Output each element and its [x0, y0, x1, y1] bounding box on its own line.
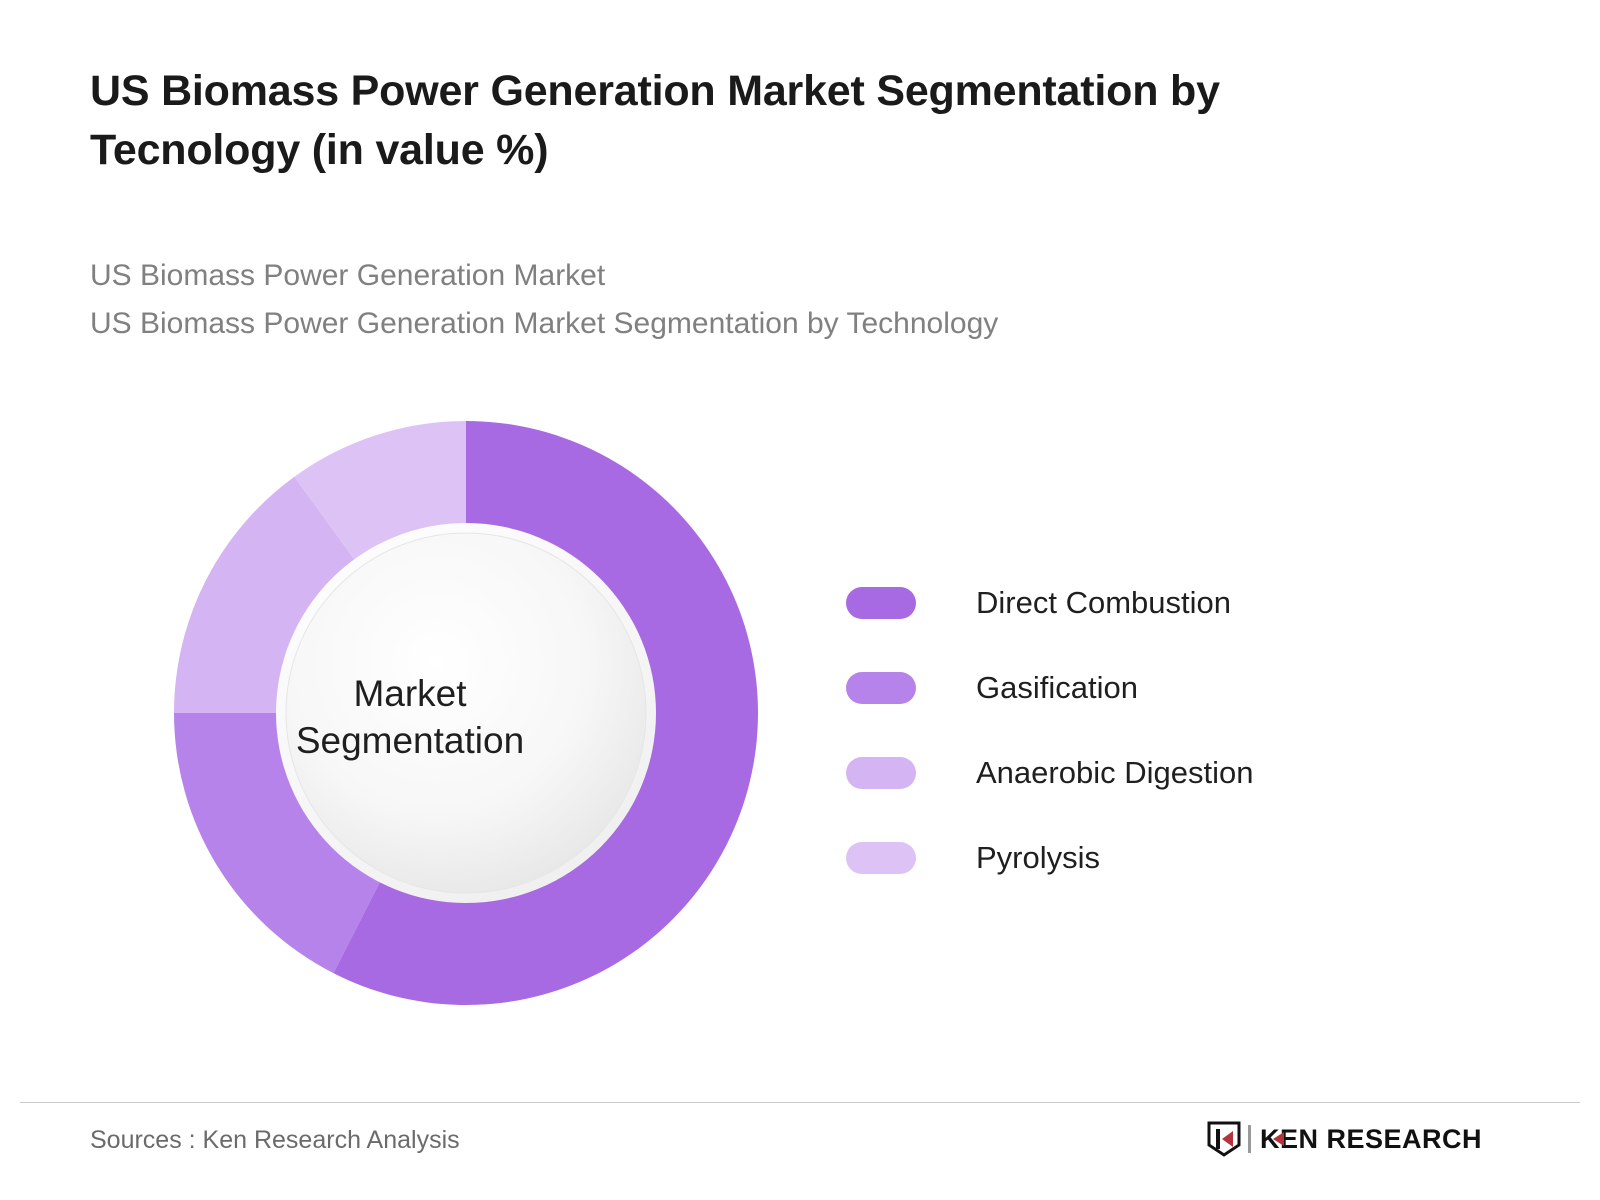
- subtitle-line-2: US Biomass Power Generation Market Segme…: [90, 300, 1390, 348]
- subtitle-block: US Biomass Power Generation Market US Bi…: [90, 252, 1390, 348]
- subtitle-line-1: US Biomass Power Generation Market: [90, 252, 1390, 300]
- legend-swatch-icon: [846, 672, 916, 704]
- legend-swatch-icon: [846, 587, 916, 619]
- logo-wordmark: K EN RESEARCH: [1260, 1124, 1482, 1155]
- donut-chart: Market Segmentation: [150, 395, 790, 1035]
- legend-item-label: Pyrolysis: [976, 840, 1100, 876]
- logo-divider: [1248, 1125, 1251, 1153]
- legend-item-pyrolysis[interactable]: Pyrolysis: [846, 815, 1466, 900]
- legend-item-label: Anaerobic Digestion: [976, 755, 1253, 791]
- footer-source-text: Sources : Ken Research Analysis: [90, 1126, 460, 1155]
- legend-item-anaerobic-digestion[interactable]: Anaerobic Digestion: [846, 730, 1466, 815]
- legend-item-gasification[interactable]: Gasification: [846, 645, 1466, 730]
- logo-wordmark-rest: EN RESEARCH: [1280, 1124, 1482, 1155]
- legend-item-label: Gasification: [976, 670, 1138, 706]
- legend-swatch-icon: [846, 757, 916, 789]
- ken-research-shield-icon: [1207, 1121, 1241, 1157]
- donut-chart-svg: [150, 395, 790, 1035]
- page-title: US Biomass Power Generation Market Segme…: [90, 62, 1430, 181]
- legend-item-label: Direct Combustion: [976, 585, 1231, 621]
- logo-wordmark-k: K: [1260, 1124, 1280, 1155]
- legend-swatch-icon: [846, 842, 916, 874]
- donut-hub: [286, 533, 646, 893]
- chart-legend: Direct Combustion Gasification Anaerobic…: [846, 560, 1466, 900]
- slide-canvas: US Biomass Power Generation Market Segme…: [0, 0, 1600, 1200]
- footer-divider: [20, 1102, 1580, 1103]
- logo-red-triangle-icon: [1273, 1132, 1284, 1146]
- legend-item-direct-combustion[interactable]: Direct Combustion: [846, 560, 1466, 645]
- ken-research-logo: K EN RESEARCH: [1207, 1120, 1482, 1158]
